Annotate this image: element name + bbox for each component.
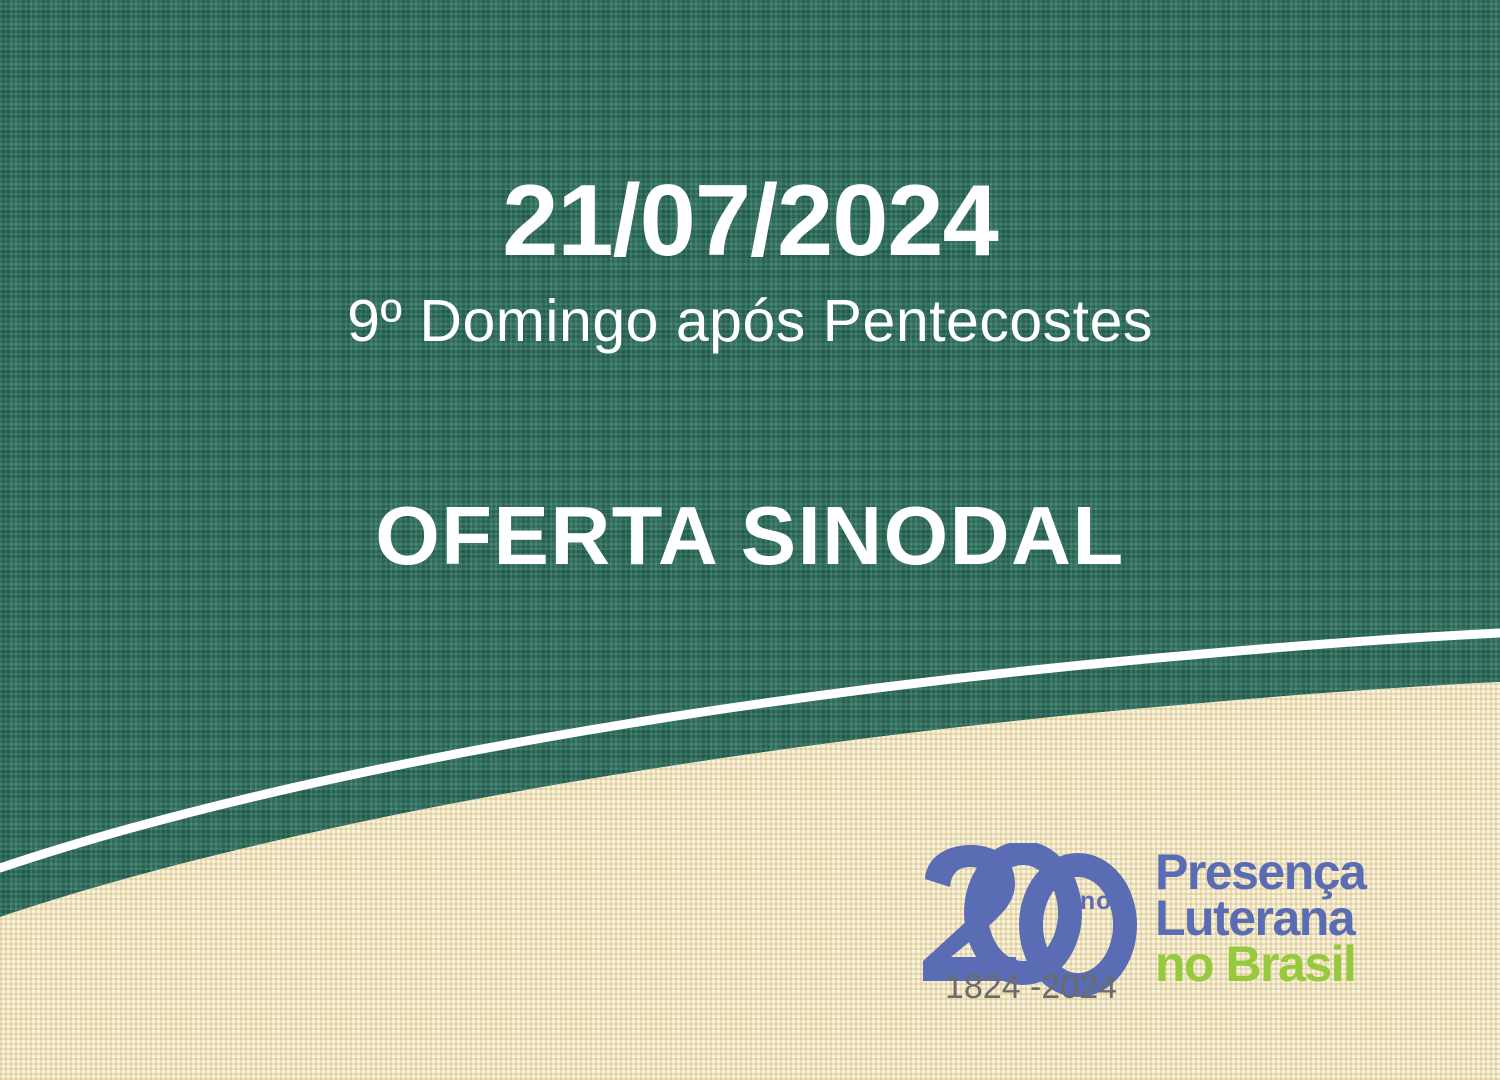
logo-200-anos-mark: anos 1824 -2024 [915,843,1147,1001]
poster-canvas: 21/07/2024 9º Domingo após Pentecostes O… [0,0,1500,1080]
service-date: 21/07/2024 [0,168,1500,274]
logo-anos-text: anos [1065,887,1127,915]
logo-200-glyph [923,845,1125,985]
logo-years-text: 1824 -2024 [945,968,1117,1001]
offering-title: OFERTA SINODAL [0,492,1500,579]
logo-line-presenca: Presença [1155,849,1365,895]
logo-line-luterana: Luterana [1155,895,1365,941]
logo-wordmark: Presença Luterana no Brasil [1155,843,1365,987]
liturgical-sunday-label: 9º Domingo após Pentecostes [0,290,1500,354]
presenca-luterana-logo: anos 1824 -2024 Presença Luterana no Bra… [915,843,1435,1003]
logo-line-no-brasil: no Brasil [1155,941,1365,987]
